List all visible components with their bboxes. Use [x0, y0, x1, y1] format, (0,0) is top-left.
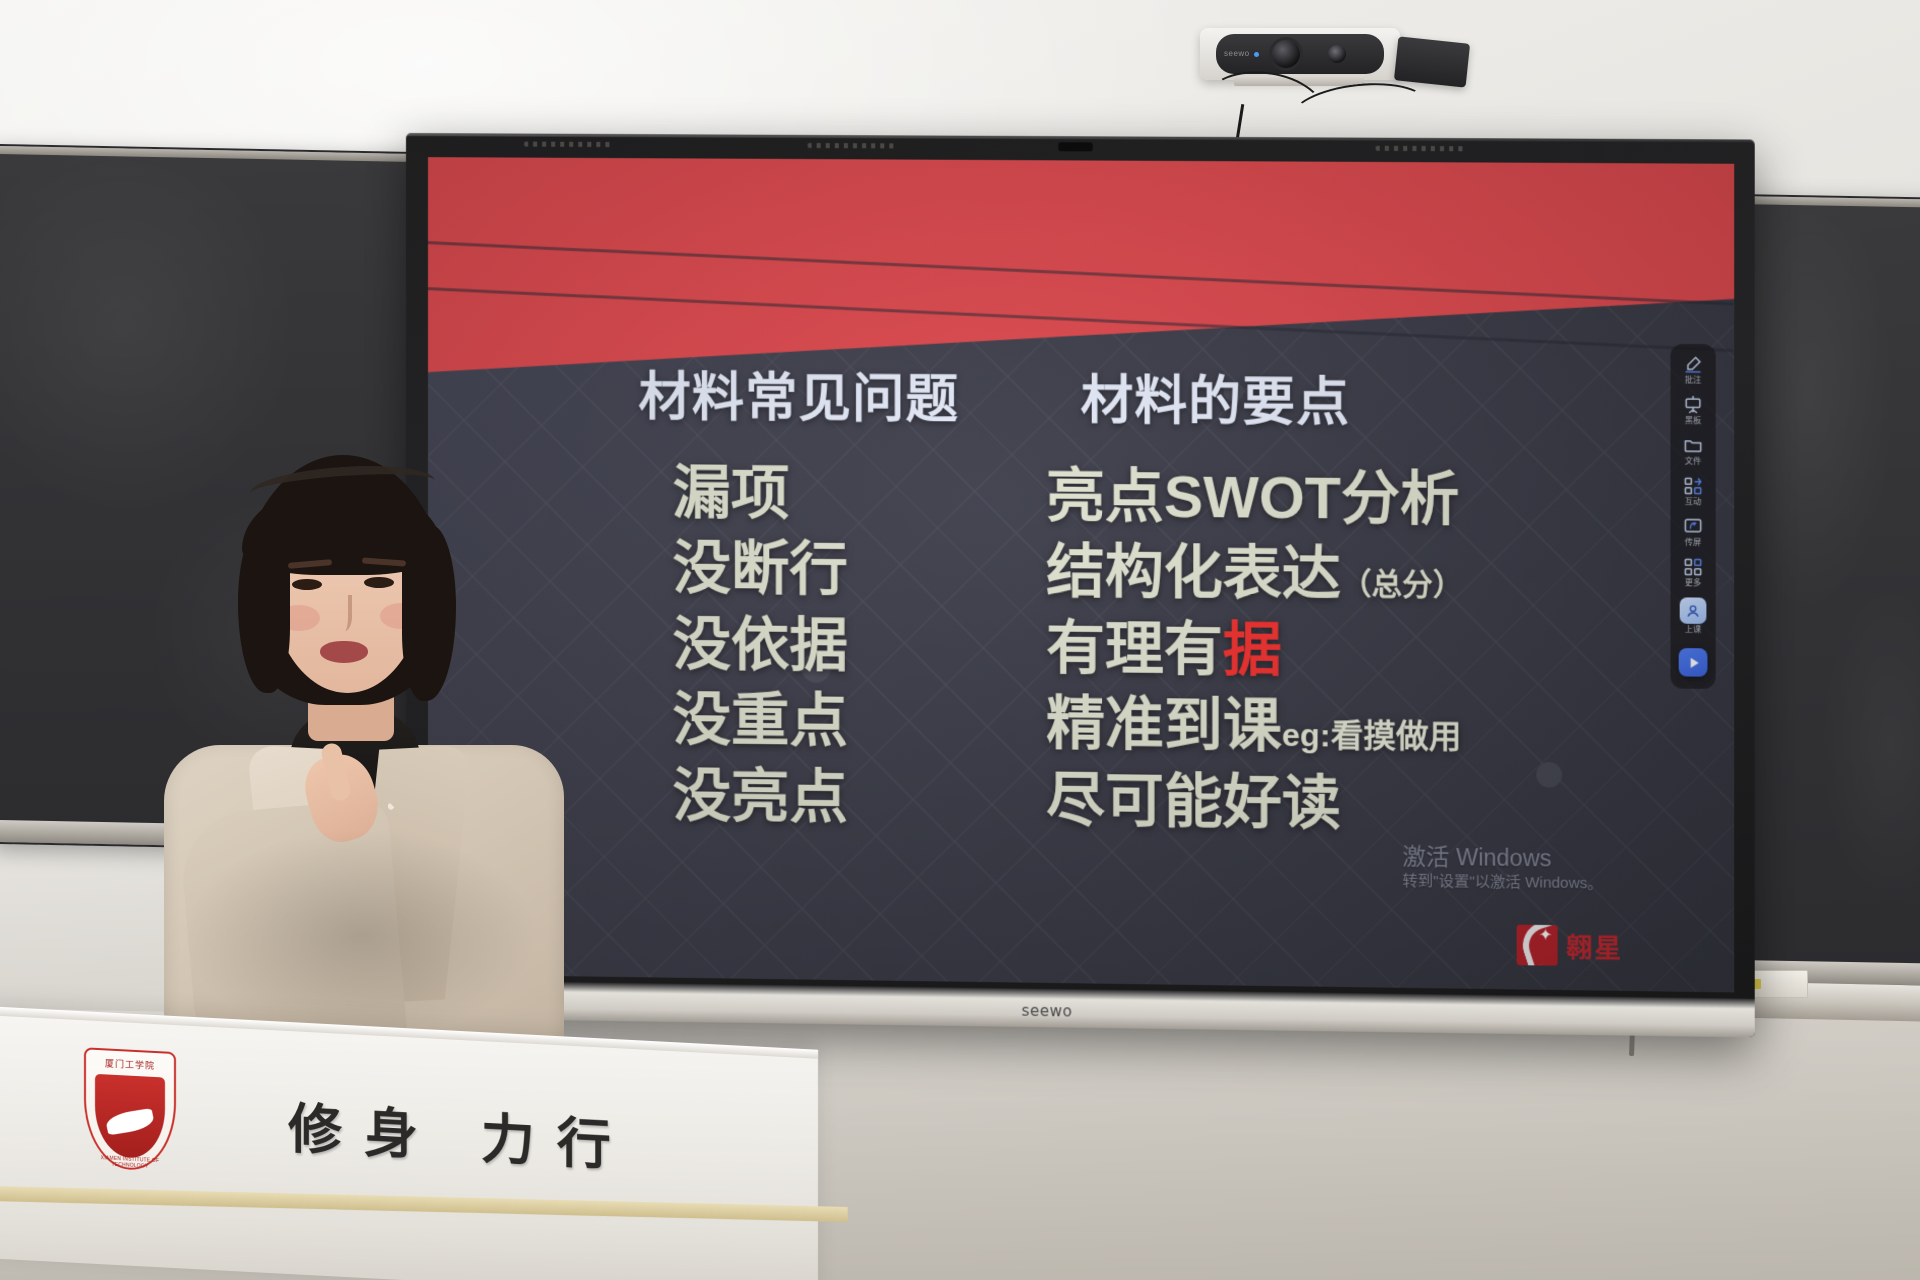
blackboard-right — [1740, 194, 1920, 988]
seewo-side-toolbar[interactable]: 批注 黑板 — [1670, 344, 1715, 689]
play-icon — [1679, 648, 1708, 677]
crest-university-name-en: XIAMEN INSTITUTE OF TECHNOLOGY — [86, 1154, 174, 1171]
camera-lens-icon — [1272, 40, 1300, 68]
screencast-icon — [1683, 516, 1704, 536]
watermark-line-1: 激活 Windows — [1402, 842, 1602, 874]
slide-headings-row: 材料常见问题 材料的要点 — [428, 353, 1734, 438]
camera-brand-label: seewo — [1224, 49, 1250, 58]
crest-bird-icon — [104, 1108, 155, 1135]
blackboard-right-chalk-haze — [1748, 202, 1920, 980]
logo-wordmark: 翱星 — [1566, 927, 1623, 965]
camera-side-panel — [1394, 36, 1470, 87]
slide-heading-right: 材料的要点 — [1081, 358, 1351, 436]
list-item-text: 亮点SWOT分析 — [1046, 463, 1459, 532]
toolbar-item-more[interactable]: 更多 — [1673, 557, 1714, 588]
camera-led-icon — [1254, 52, 1259, 57]
list-item-note: eg:看摸做用 — [1282, 717, 1462, 755]
bezel-ir-strip-left — [524, 142, 614, 147]
list-item: 有理有据 — [1046, 610, 1617, 692]
slide-body-columns: 漏项 没断行 没依据 没重点 没亮点 亮点SWOT分析 结构化表达（总分） 有理… — [428, 453, 1734, 846]
toolbar-item-blackboard[interactable]: 黑板 — [1673, 395, 1714, 426]
toolbar-item-files[interactable]: 文件 — [1673, 435, 1714, 466]
crest-university-name: 厦门工学院 — [86, 1055, 174, 1073]
slide-footer-logo: ✦ 翱星 — [1517, 925, 1624, 967]
list-item: 亮点SWOT分析 — [1046, 458, 1617, 539]
watermark-line-2: 转到"设置"以激活 Windows。 — [1402, 871, 1602, 893]
presenter-nose — [334, 595, 352, 631]
slide-column-keypoints: 亮点SWOT分析 结构化表达（总分） 有理有据 精准到课eg:看摸做用 尽可能好… — [1046, 458, 1617, 845]
presenter — [130, 455, 600, 1055]
list-item: 尽可能好读 — [1046, 762, 1617, 845]
grid-more-icon — [1683, 557, 1704, 577]
toolbar-item-label: 互动 — [1685, 498, 1701, 506]
list-item: 精准到课eg:看摸做用 — [1046, 686, 1617, 768]
toolbar-item-annotate[interactable]: 批注 — [1673, 354, 1714, 385]
blackboard-icon — [1683, 395, 1704, 415]
camera-body: seewo — [1200, 28, 1400, 80]
presenter-eye-right — [364, 577, 394, 588]
presenter-hair-right — [402, 525, 456, 701]
bezel-sensor-icon — [1058, 142, 1092, 151]
camera-secondary-lens-icon — [1328, 45, 1346, 63]
toolbar-item-label: 批注 — [1685, 376, 1701, 384]
lectern-motto: 修身 力行 — [288, 1084, 633, 1181]
list-item: 没亮点 — [673, 758, 1046, 838]
list-item-emphasis: 据 — [1223, 617, 1282, 683]
university-crest: 厦门工学院 XIAMEN INSTITUTE OF TECHNOLOGY — [84, 1047, 176, 1172]
toolbar-item-label: 文件 — [1685, 458, 1701, 466]
pen-icon — [1683, 354, 1704, 374]
star-glyph: ✦ — [1539, 928, 1553, 944]
toolbar-item-label: 传屏 — [1685, 539, 1701, 547]
bezel-ir-strip-right — [1376, 146, 1468, 152]
class-start-icon — [1680, 597, 1707, 624]
toolbar-item-label: 上课 — [1685, 626, 1701, 634]
list-item-text: 精准到课 — [1046, 691, 1282, 759]
crest-inner-field — [95, 1074, 165, 1160]
presenter-hair-left — [238, 525, 290, 693]
list-item: 漏项 — [673, 455, 1046, 534]
slide-heading-left: 材料常见问题 — [638, 355, 959, 433]
list-item-text: 有理有 — [1046, 615, 1223, 682]
lectern-panel: 厦门工学院 XIAMEN INSTITUTE OF TECHNOLOGY 修身 … — [0, 1006, 818, 1280]
toolbar-item-start-class[interactable]: 上课 — [1673, 597, 1714, 634]
list-item: 没重点 — [673, 682, 1046, 762]
list-item-note: （总分） — [1341, 568, 1464, 603]
folder-icon — [1683, 435, 1704, 455]
list-item-text: 尽可能好读 — [1046, 767, 1341, 836]
lectern-gold-stripe — [0, 1185, 848, 1222]
camera-face: seewo — [1216, 34, 1384, 74]
presentation-screen[interactable]: 材料常见问题 材料的要点 漏项 没断行 没依据 没重点 没亮点 亮点SWOT分析… — [428, 157, 1734, 992]
presenter-mouth — [320, 641, 368, 663]
display-brand-label: seewo — [1022, 1002, 1073, 1021]
list-item-text: 结构化表达 — [1046, 539, 1341, 607]
toolbar-item-label: 更多 — [1685, 579, 1701, 587]
toolbar-item-interact[interactable]: 互动 — [1673, 476, 1714, 507]
bezel-ir-strip-mid — [808, 143, 899, 148]
interact-icon — [1683, 476, 1704, 496]
classroom-scene: 上课期间请勿擦拭 seewo — [0, 0, 1920, 1280]
list-item: 结构化表达（总分） — [1046, 534, 1617, 616]
list-item: 没依据 — [673, 606, 1046, 686]
toolbar-item-label: 黑板 — [1685, 417, 1701, 425]
presenter-eye-left — [292, 579, 322, 590]
slide-column-problems: 漏项 没断行 没依据 没重点 没亮点 — [673, 455, 1046, 838]
toolbar-play-button[interactable] — [1673, 648, 1714, 677]
shooting-star-icon: ✦ — [1517, 925, 1558, 966]
interactive-flat-panel[interactable]: 材料常见问题 材料的要点 漏项 没断行 没依据 没重点 没亮点 亮点SWOT分析… — [406, 133, 1755, 1037]
list-item: 没断行 — [673, 531, 1046, 610]
toolbar-item-screencast[interactable]: 传屏 — [1673, 516, 1714, 547]
crest-shield: 厦门工学院 XIAMEN INSTITUTE OF TECHNOLOGY — [84, 1047, 176, 1172]
windows-activation-watermark: 激活 Windows 转到"设置"以激活 Windows。 — [1402, 842, 1602, 893]
